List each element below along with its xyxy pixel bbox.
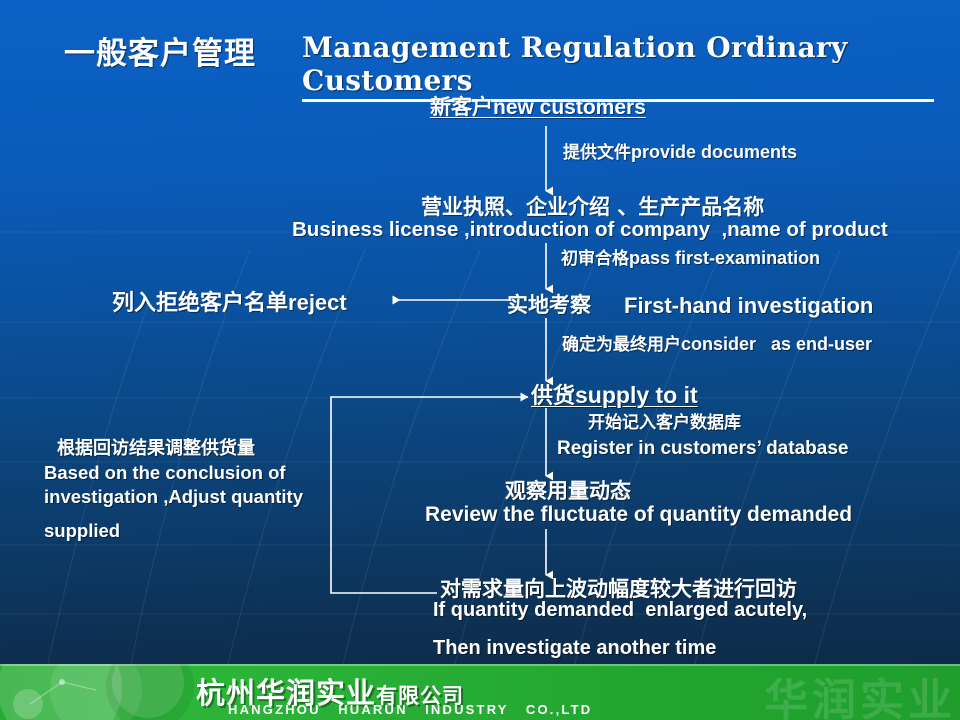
- node-documents-en: Business license ,introduction of compan…: [292, 219, 888, 241]
- node-investigation-cn: 实地考察: [507, 294, 591, 316]
- node-new-customers: 新客户new customers: [430, 96, 646, 119]
- footer-company-name-en: HANGZHOU HUARUN INDUSTRY CO.,LTD: [228, 702, 592, 717]
- node-new-customers-cn: 新客户: [430, 94, 493, 119]
- slide-canvas: 一般客户管理 Management Regulation Ordinary Cu…: [0, 0, 960, 720]
- connector-feedback-loop: [331, 397, 528, 593]
- feedback-note-en-line2: investigation ,Adjust quantity: [44, 487, 303, 506]
- node-reject-en: reject: [288, 290, 347, 315]
- edge-label-provide-documents-cn: 提供文件: [563, 143, 631, 163]
- node-reinvestigate-en-line2: Then investigate another time: [433, 638, 716, 659]
- edge-label-consider-end-user: 确定为最终用户consider as end-user: [562, 335, 872, 355]
- page-title-english: Management Regulation Ordinary Customers: [302, 31, 934, 102]
- page-title-chinese: 一般客户管理: [64, 28, 256, 73]
- node-review-en: Review the fluctuate of quantity demande…: [425, 504, 852, 526]
- footer-ghost-watermark: 华润实业: [764, 664, 956, 720]
- edge-label-consider-end-user-cn: 确定为最终用户: [562, 335, 681, 355]
- node-review-cn: 观察用量动态: [505, 480, 631, 502]
- feedback-note-en-line1: Based on the conclusion of: [44, 463, 286, 482]
- node-supply: 供货supply to it: [531, 383, 698, 408]
- edge-label-consider-end-user-en: consider as end-user: [681, 334, 872, 354]
- node-investigation-en: First-hand investigation: [624, 294, 873, 317]
- node-supply-cn: 供货: [531, 383, 575, 409]
- edge-label-pass-first-examination-cn: 初审合格: [561, 249, 629, 269]
- node-new-customers-en: new customers: [493, 96, 646, 119]
- edge-label-register-database-en: Register in customers’ database: [557, 439, 848, 459]
- node-supply-en: supply to it: [575, 382, 698, 408]
- node-reject: 列入拒绝客户名单reject: [112, 291, 347, 315]
- page-title: 一般客户管理 Management Regulation Ordinary Cu…: [64, 28, 934, 74]
- edge-label-register-database-cn: 开始记入客户数据库: [588, 415, 741, 433]
- feedback-note-en-line3: supplied: [44, 521, 120, 540]
- footer-banner: 华润实业 杭州华润实业有限公司 HANGZHOU HUARUN INDUSTRY…: [0, 664, 960, 720]
- node-reinvestigate-cn: 对需求量向上波动幅度较大者进行回访: [440, 578, 797, 600]
- edge-label-provide-documents: 提供文件provide documents: [563, 143, 797, 163]
- edge-label-provide-documents-en: provide documents: [631, 142, 797, 162]
- node-reinvestigate-en-line1: If quantity demanded enlarged acutely,: [433, 600, 807, 621]
- node-reject-cn: 列入拒绝客户名单: [112, 290, 288, 316]
- edge-label-pass-first-examination-en: pass first-examination: [629, 248, 820, 268]
- edge-label-pass-first-examination: 初审合格pass first-examination: [561, 249, 820, 269]
- node-documents-cn: 营业执照、企业介绍 、生产产品名称: [421, 196, 764, 218]
- feedback-note-cn: 根据回访结果调整供货量: [57, 440, 255, 459]
